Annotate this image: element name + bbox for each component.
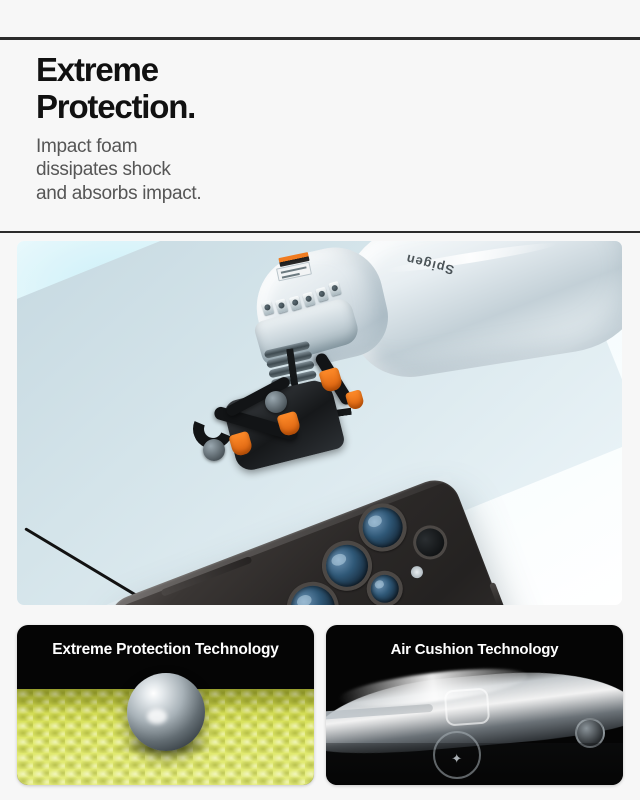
headline-line-2: Protection. <box>36 89 556 126</box>
extreme-protection-technology-card: Extreme Protection Technology <box>17 625 314 785</box>
technology-cards-row: Extreme Protection Technology Air Cushio… <box>17 625 623 785</box>
product-feature-page: Extreme Protection. Impact foam dissipat… <box>0 0 640 800</box>
steel-ball <box>127 673 205 751</box>
camera-flash <box>409 564 425 580</box>
headline-line-1: Extreme <box>36 52 556 89</box>
hero-divider <box>0 231 640 233</box>
air-cushion-chamber <box>444 688 490 727</box>
header-text-block: Extreme Protection. Impact foam dissipat… <box>36 52 556 206</box>
gripper-pivot-pin <box>203 439 225 461</box>
gripper-pivot-pin <box>265 391 287 413</box>
page-subtitle: Impact foam dissipates shock and absorbs… <box>36 135 556 206</box>
top-divider <box>0 37 640 40</box>
hero-product-image: Spigen <box>17 241 622 605</box>
subline-line-3: and absorbs impact. <box>36 182 556 206</box>
sparkle-icon: ✦ <box>451 751 462 767</box>
air-cushion-technology-card: Air Cushion Technology ✦ <box>326 625 623 785</box>
subline-line-2: dissipates shock <box>36 158 556 182</box>
page-title: Extreme Protection. <box>36 52 556 126</box>
subline-line-1: Impact foam <box>36 135 556 159</box>
card-title: Air Cushion Technology <box>326 641 623 658</box>
card-title: Extreme Protection Technology <box>17 641 314 659</box>
camera-sensor <box>408 520 452 564</box>
